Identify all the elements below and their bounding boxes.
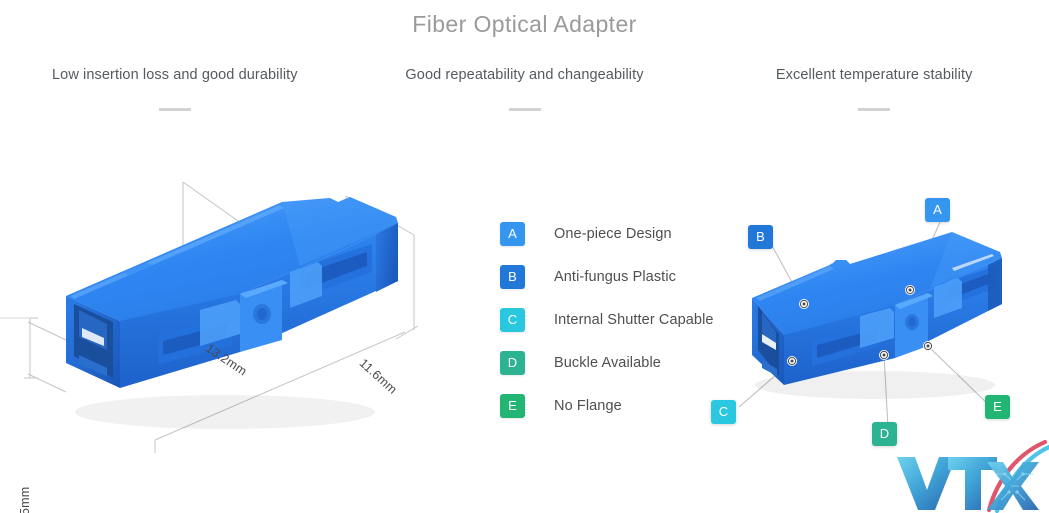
adapter-3d-model-right [752, 232, 1002, 399]
legend-label-b: Anti-fungus Plastic [554, 269, 676, 285]
feature-divider-1 [159, 108, 191, 111]
callout-marker-b [799, 299, 809, 309]
callout-marker-d [879, 350, 889, 360]
legend-badge-e: E [500, 394, 525, 418]
adapter-3d-model-left [66, 197, 398, 429]
feature-text-3: Excellent temperature stability [699, 64, 1049, 86]
callout-badge-e[interactable]: E [985, 395, 1010, 419]
legend-item-e[interactable]: E No Flange [500, 394, 730, 418]
legend-item-c[interactable]: C Internal Shutter Capable [500, 308, 730, 332]
legend-badge-d: D [500, 351, 525, 375]
feature-column-3: Excellent temperature stability [699, 64, 1049, 111]
legend-item-d[interactable]: D Buckle Available [500, 351, 730, 375]
callout-badge-c[interactable]: C [711, 400, 736, 424]
dimension-label-height: 6.95mm [18, 487, 32, 513]
callout-marker-c [787, 356, 797, 366]
legend-label-c: Internal Shutter Capable [554, 312, 714, 328]
page-title: Fiber Optical Adapter [0, 9, 1049, 39]
callout-badge-b[interactable]: B [748, 225, 773, 249]
dimension-diagram-svg [0, 150, 470, 470]
vtx-logo-svg [893, 440, 1049, 513]
legend-badge-b: B [500, 265, 525, 289]
feature-subtitle-row: Low insertion loss and good durability G… [0, 64, 1049, 111]
feature-legend-list: A One-piece Design B Anti-fungus Plastic… [500, 222, 730, 418]
callout-marker-e [923, 341, 933, 351]
callout-badge-a[interactable]: A [925, 198, 950, 222]
legend-label-a: One-piece Design [554, 226, 672, 242]
legend-label-e: No Flange [554, 398, 622, 414]
legend-item-a[interactable]: A One-piece Design [500, 222, 730, 246]
feature-divider-3 [858, 108, 890, 111]
legend-item-b[interactable]: B Anti-fungus Plastic [500, 265, 730, 289]
legend-badge-a: A [500, 222, 525, 246]
product-feature-page: Fiber Optical Adapter Low insertion loss… [0, 0, 1049, 513]
vtx-logo [893, 440, 1049, 513]
legend-badge-c: C [500, 308, 525, 332]
legend-label-d: Buckle Available [554, 355, 661, 371]
logo-letter-v [897, 457, 956, 510]
feature-text-1: Low insertion loss and good durability [0, 64, 350, 86]
feature-column-1: Low insertion loss and good durability [0, 64, 350, 111]
dimension-diagram: 13.2mm 11.6mm 29.2mm 6.95mm [0, 150, 470, 470]
feature-column-2: Good repeatability and changeability [350, 64, 700, 111]
feature-divider-2 [509, 108, 541, 111]
callout-marker-a [905, 285, 915, 295]
feature-text-2: Good repeatability and changeability [350, 64, 700, 86]
